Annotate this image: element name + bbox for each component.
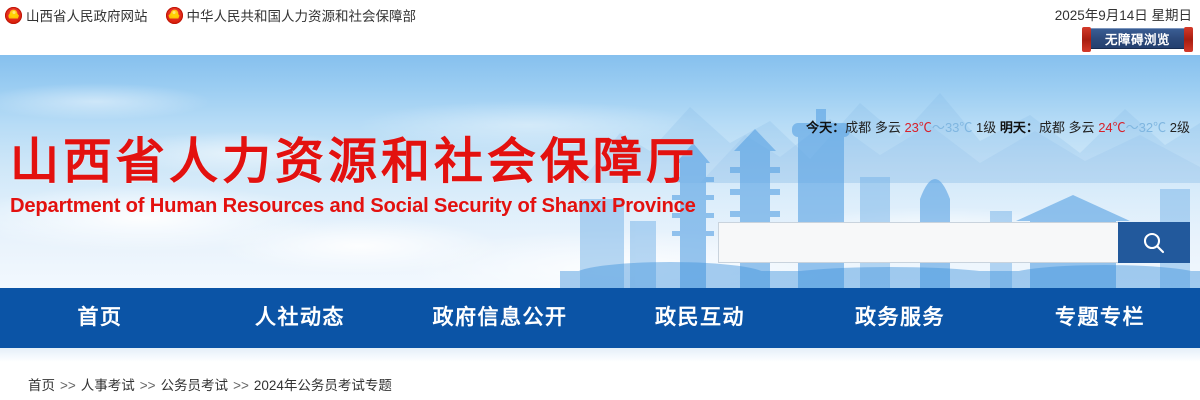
weather-today-condition: 多云 <box>875 120 901 135</box>
weather-strip: 今天：成都 多云 23℃～33℃ 1级 明天：成都 多云 24℃～32℃ 2级 <box>806 117 1190 136</box>
site-title-english: Department of Human Resources and Social… <box>10 194 660 218</box>
national-emblem-icon <box>5 7 22 24</box>
nav-item-special-topic[interactable]: 专题专栏 <box>1000 288 1200 348</box>
breadcrumb-item-home[interactable]: 首页 <box>28 378 55 393</box>
nav-item-services[interactable]: 政务服务 <box>800 288 1000 348</box>
weather-tomorrow-label: 明天： <box>1000 120 1039 135</box>
site-search <box>718 222 1190 263</box>
breadcrumb-area: 首页>>人事考试>>公务员考试>>2024年公务员考试专题 <box>0 362 1200 400</box>
gov-link-label: 中华人民共和国人力资源和社会保障部 <box>187 5 417 25</box>
breadcrumb-separator: >> <box>233 378 249 393</box>
site-banner: 山西省人力资源和社会保障厅 Department of Human Resour… <box>0 55 1200 288</box>
nav-bottom-fade <box>0 348 1200 362</box>
weather-tomorrow-condition: 多云 <box>1069 120 1095 135</box>
accessibility-browse-button[interactable]: 无障碍浏览 <box>1091 28 1184 49</box>
top-bar: 山西省人民政府网站 中华人民共和国人力资源和社会保障部 2025年9月14日 星… <box>0 0 1200 55</box>
gov-link-label: 山西省人民政府网站 <box>26 5 148 25</box>
current-date: 2025年9月14日 星期日 <box>1055 4 1192 24</box>
gov-link-mohrss[interactable]: 中华人民共和国人力资源和社会保障部 <box>166 5 417 25</box>
breadcrumb: 首页>>人事考试>>公务员考试>>2024年公务员考试专题 <box>28 374 392 394</box>
gov-link-shanxi-gov[interactable]: 山西省人民政府网站 <box>5 5 148 25</box>
weather-tomorrow-low: 24℃ <box>1098 120 1125 135</box>
search-button[interactable] <box>1118 222 1190 263</box>
weather-today-low: 23℃ <box>904 120 931 135</box>
main-navigation: 首页 人社动态 政府信息公开 政民互动 政务服务 专题专栏 <box>0 288 1200 348</box>
national-emblem-icon <box>166 7 183 24</box>
top-bar-right: 2025年9月14日 星期日 无障碍浏览 <box>1055 4 1192 49</box>
weather-today-high: 33℃ <box>945 120 972 135</box>
gov-links: 山西省人民政府网站 中华人民共和国人力资源和社会保障部 <box>5 5 416 25</box>
weather-tomorrow-range-separator: ～ <box>1126 120 1139 135</box>
site-title-block: 山西省人力资源和社会保障厅 Department of Human Resour… <box>10 135 670 218</box>
nav-item-gov-info[interactable]: 政府信息公开 <box>400 288 600 348</box>
weather-tomorrow-high: 32℃ <box>1139 120 1166 135</box>
breadcrumb-separator: >> <box>60 378 76 393</box>
nav-item-home[interactable]: 首页 <box>0 288 200 348</box>
weather-today-city: 成都 <box>845 120 871 135</box>
weather-today-label: 今天： <box>806 120 845 135</box>
nav-item-news[interactable]: 人社动态 <box>200 288 400 348</box>
breadcrumb-item-civil-servant-exam[interactable]: 公务员考试 <box>161 378 229 393</box>
breadcrumb-item-current: 2024年公务员考试专题 <box>254 378 392 393</box>
site-title-chinese: 山西省人力资源和社会保障厅 <box>10 135 670 190</box>
weather-today-range-separator: ～ <box>932 120 945 135</box>
page-root: 山西省人民政府网站 中华人民共和国人力资源和社会保障部 2025年9月14日 星… <box>0 0 1200 400</box>
search-input[interactable] <box>718 222 1118 263</box>
weather-today-wind: 1级 <box>976 120 996 135</box>
search-icon <box>1141 230 1167 256</box>
weather-tomorrow-wind: 2级 <box>1170 120 1190 135</box>
breadcrumb-item-personnel-exam[interactable]: 人事考试 <box>81 378 135 393</box>
breadcrumb-separator: >> <box>140 378 156 393</box>
nav-item-interaction[interactable]: 政民互动 <box>600 288 800 348</box>
weather-tomorrow-city: 成都 <box>1039 120 1065 135</box>
